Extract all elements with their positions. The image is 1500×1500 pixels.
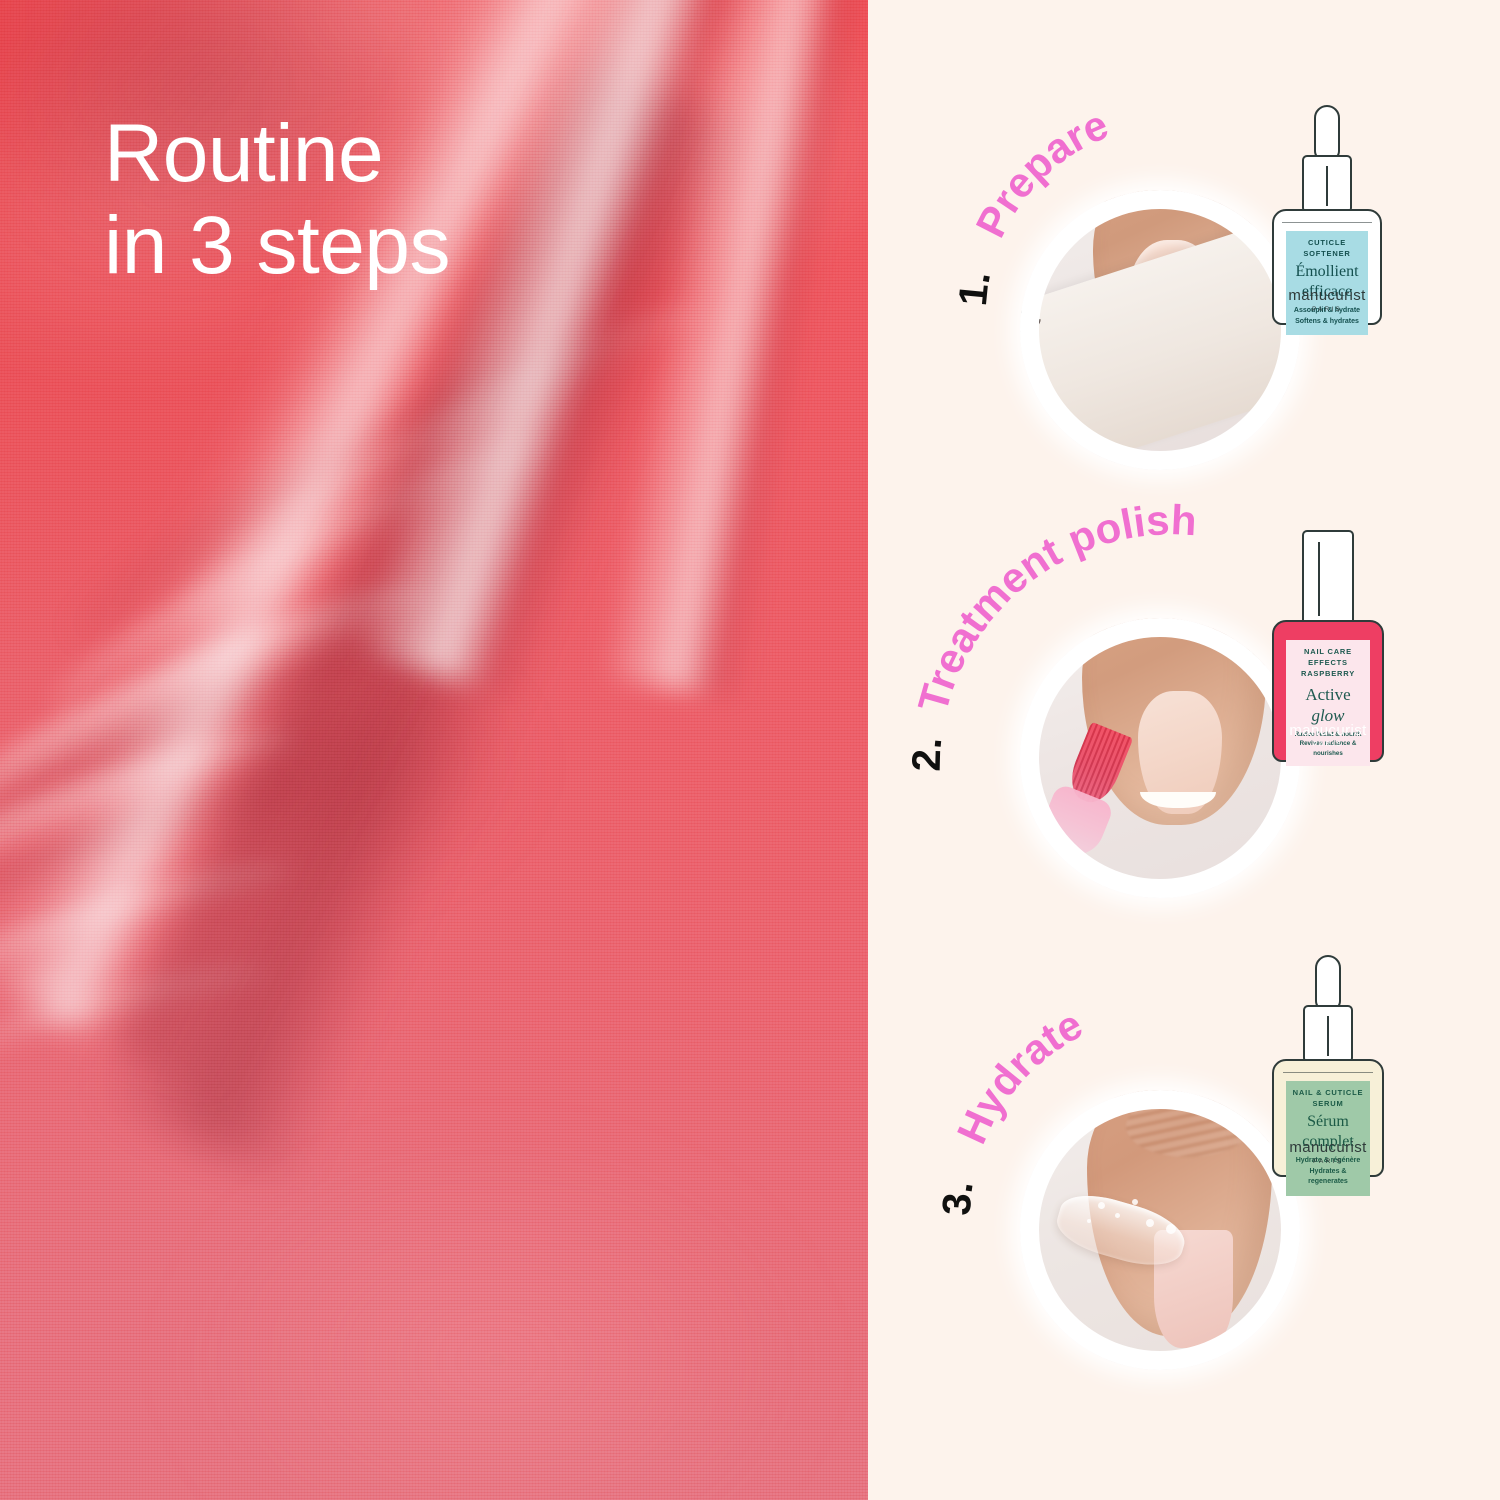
silk-background-panel: Routine in 3 steps <box>0 0 868 1500</box>
step-3-product-bottle[interactable]: NAIL & CUTICLE SERUM Sérum complet Hydra… <box>1272 955 1384 1177</box>
step-2-number: 2. <box>905 735 951 772</box>
dropper-cap-icon <box>1302 155 1352 213</box>
svg-text:2.: 2. <box>905 735 951 772</box>
step-3-bottle-body: NAIL & CUTICLE SERUM Sérum complet Hydra… <box>1272 1059 1384 1177</box>
step-3-label-name-1: Sérum <box>1290 1114 1366 1131</box>
step-1-label-kicker: CUTICLE SOFTENER <box>1290 238 1365 260</box>
step-2-brand-name: manucurist <box>1274 722 1382 739</box>
svg-text:1.: 1. <box>951 267 999 307</box>
step-1-brand-block: manucurist PARIS <box>1274 287 1380 313</box>
polish-cap-icon <box>1302 530 1354 626</box>
pipette-tip-icon <box>1314 105 1340 161</box>
step-2-label-kicker: NAIL CARE EFFECTS <box>1290 647 1366 669</box>
step-2-word: Treatment polish <box>909 496 1198 717</box>
step-1-number: 1. <box>951 267 999 307</box>
step-3-label: 3. Hydrate <box>954 1008 1304 1228</box>
bottle-shoulder-line <box>1283 1072 1374 1073</box>
step-3-word: Hydrate <box>948 1000 1090 1150</box>
promo-canvas: Routine in 3 steps anucur <box>0 0 1500 1500</box>
step-1-word: Prepare <box>967 100 1115 244</box>
bottle-shoulder-line <box>1282 222 1371 223</box>
step-1-bottle-label: CUTICLE SOFTENER Émollient efficace Asso… <box>1286 231 1369 335</box>
svg-text:Hydrate: Hydrate <box>948 1000 1090 1150</box>
step-1-label-name-1: Émollient <box>1290 264 1365 281</box>
step-2-label-name-1: Active <box>1290 686 1366 704</box>
step-3-brand-block: manucurist PARIS <box>1274 1139 1382 1165</box>
step-3-brand-city: PARIS <box>1274 1158 1382 1165</box>
step-2-bottle-body: NAIL CARE EFFECTS RASPBERRY Active glow … <box>1272 620 1384 762</box>
step-3-brand-name: manucurist <box>1274 1139 1382 1156</box>
step-3-label-kicker: NAIL & CUTICLE SERUM <box>1290 1088 1366 1110</box>
step-3-label-sub-en: Hydrates & regenerates <box>1290 1167 1366 1188</box>
step-1-brand-city: PARIS <box>1274 306 1380 313</box>
step-1-label: 1. Prepare <box>968 118 1298 318</box>
headline-line-1: Routine <box>104 108 383 199</box>
step-2-brand-city: PARIS <box>1274 741 1382 748</box>
step-3-number: 3. <box>935 1178 982 1217</box>
step-2: 2. Treatment polish NAIL CARE EFFECTS RA… <box>868 500 1500 960</box>
step-1-product-bottle[interactable]: CUTICLE SOFTENER Émollient efficace Asso… <box>1272 105 1382 325</box>
dropper-cap-icon <box>1303 1005 1353 1063</box>
steps-panel: anucur 1. Prepare <box>868 0 1500 1500</box>
step-2-label: 2. Treatment polish <box>926 530 1316 780</box>
step-2-product-bottle[interactable]: NAIL CARE EFFECTS RASPBERRY Active glow … <box>1272 530 1384 762</box>
step-1-label-sub-en: Softens & hydrates <box>1290 317 1365 328</box>
step-3: 3. Hydrate NAIL & CUTICLE SERUM Sérum c <box>868 960 1500 1500</box>
svg-text:Prepare: Prepare <box>967 100 1115 244</box>
step-2-brand-block: manucurist PARIS <box>1274 722 1382 748</box>
svg-text:3.: 3. <box>935 1178 982 1217</box>
step-1-bottle-body: CUTICLE SOFTENER Émollient efficace Asso… <box>1272 209 1382 325</box>
svg-text:Treatment polish: Treatment polish <box>909 496 1198 717</box>
step-1-brand-name: manucurist <box>1274 287 1380 304</box>
step-2-label-kicker-2: RASPBERRY <box>1290 669 1366 680</box>
page-title: Routine in 3 steps <box>104 108 804 292</box>
headline-line-2: in 3 steps <box>104 200 804 292</box>
pipette-tip-icon <box>1315 955 1341 1011</box>
step-1: anucur 1. Prepare <box>868 0 1500 460</box>
